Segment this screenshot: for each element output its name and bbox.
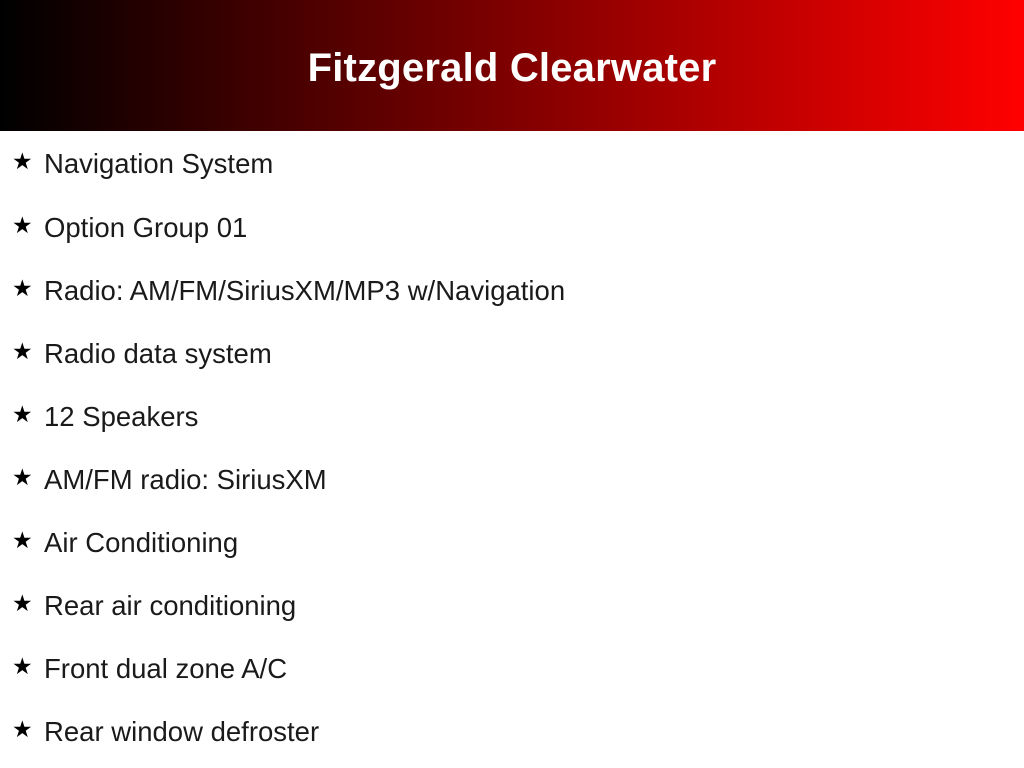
list-item-label: AM/FM radio: SiriusXM xyxy=(44,464,327,496)
list-item: ★ Navigation System xyxy=(0,131,1024,196)
list-item: ★ Option Group 01 xyxy=(0,196,1024,259)
list-item: ★ Radio: AM/FM/SiriusXM/MP3 w/Navigation xyxy=(0,259,1024,322)
page-title: Fitzgerald Clearwater xyxy=(308,48,717,88)
list-item-label: Air Conditioning xyxy=(44,527,238,559)
list-item-label: Rear air conditioning xyxy=(44,590,296,622)
list-item: ★ Rear window defroster xyxy=(0,700,1024,763)
star-icon: ★ xyxy=(12,467,44,490)
list-item-label: Radio data system xyxy=(44,338,272,370)
list-item: ★ Radio data system xyxy=(0,322,1024,385)
star-icon: ★ xyxy=(12,656,44,679)
header-banner: Fitzgerald Clearwater xyxy=(0,0,1024,131)
star-icon: ★ xyxy=(12,719,44,742)
list-item: ★ Front dual zone A/C xyxy=(0,637,1024,700)
star-icon: ★ xyxy=(12,404,44,427)
star-icon: ★ xyxy=(12,215,44,238)
list-item-label: Radio: AM/FM/SiriusXM/MP3 w/Navigation xyxy=(44,275,565,307)
list-item-label: Option Group 01 xyxy=(44,212,247,244)
star-icon: ★ xyxy=(12,593,44,616)
list-item-label: Rear window defroster xyxy=(44,716,319,748)
list-item: ★ 12 Speakers xyxy=(0,385,1024,448)
star-icon: ★ xyxy=(12,278,44,301)
star-icon: ★ xyxy=(12,151,44,174)
list-item-label: 12 Speakers xyxy=(44,401,198,433)
list-item-label: Navigation System xyxy=(44,148,273,180)
list-item: ★ Air Conditioning xyxy=(0,511,1024,574)
star-icon: ★ xyxy=(12,341,44,364)
feature-list: ★ Navigation System ★ Option Group 01 ★ … xyxy=(0,131,1024,768)
list-item: ★ AM/FM radio: SiriusXM xyxy=(0,448,1024,511)
star-icon: ★ xyxy=(12,530,44,553)
list-item-label: Front dual zone A/C xyxy=(44,653,287,685)
list-item: ★ Rear air conditioning xyxy=(0,574,1024,637)
